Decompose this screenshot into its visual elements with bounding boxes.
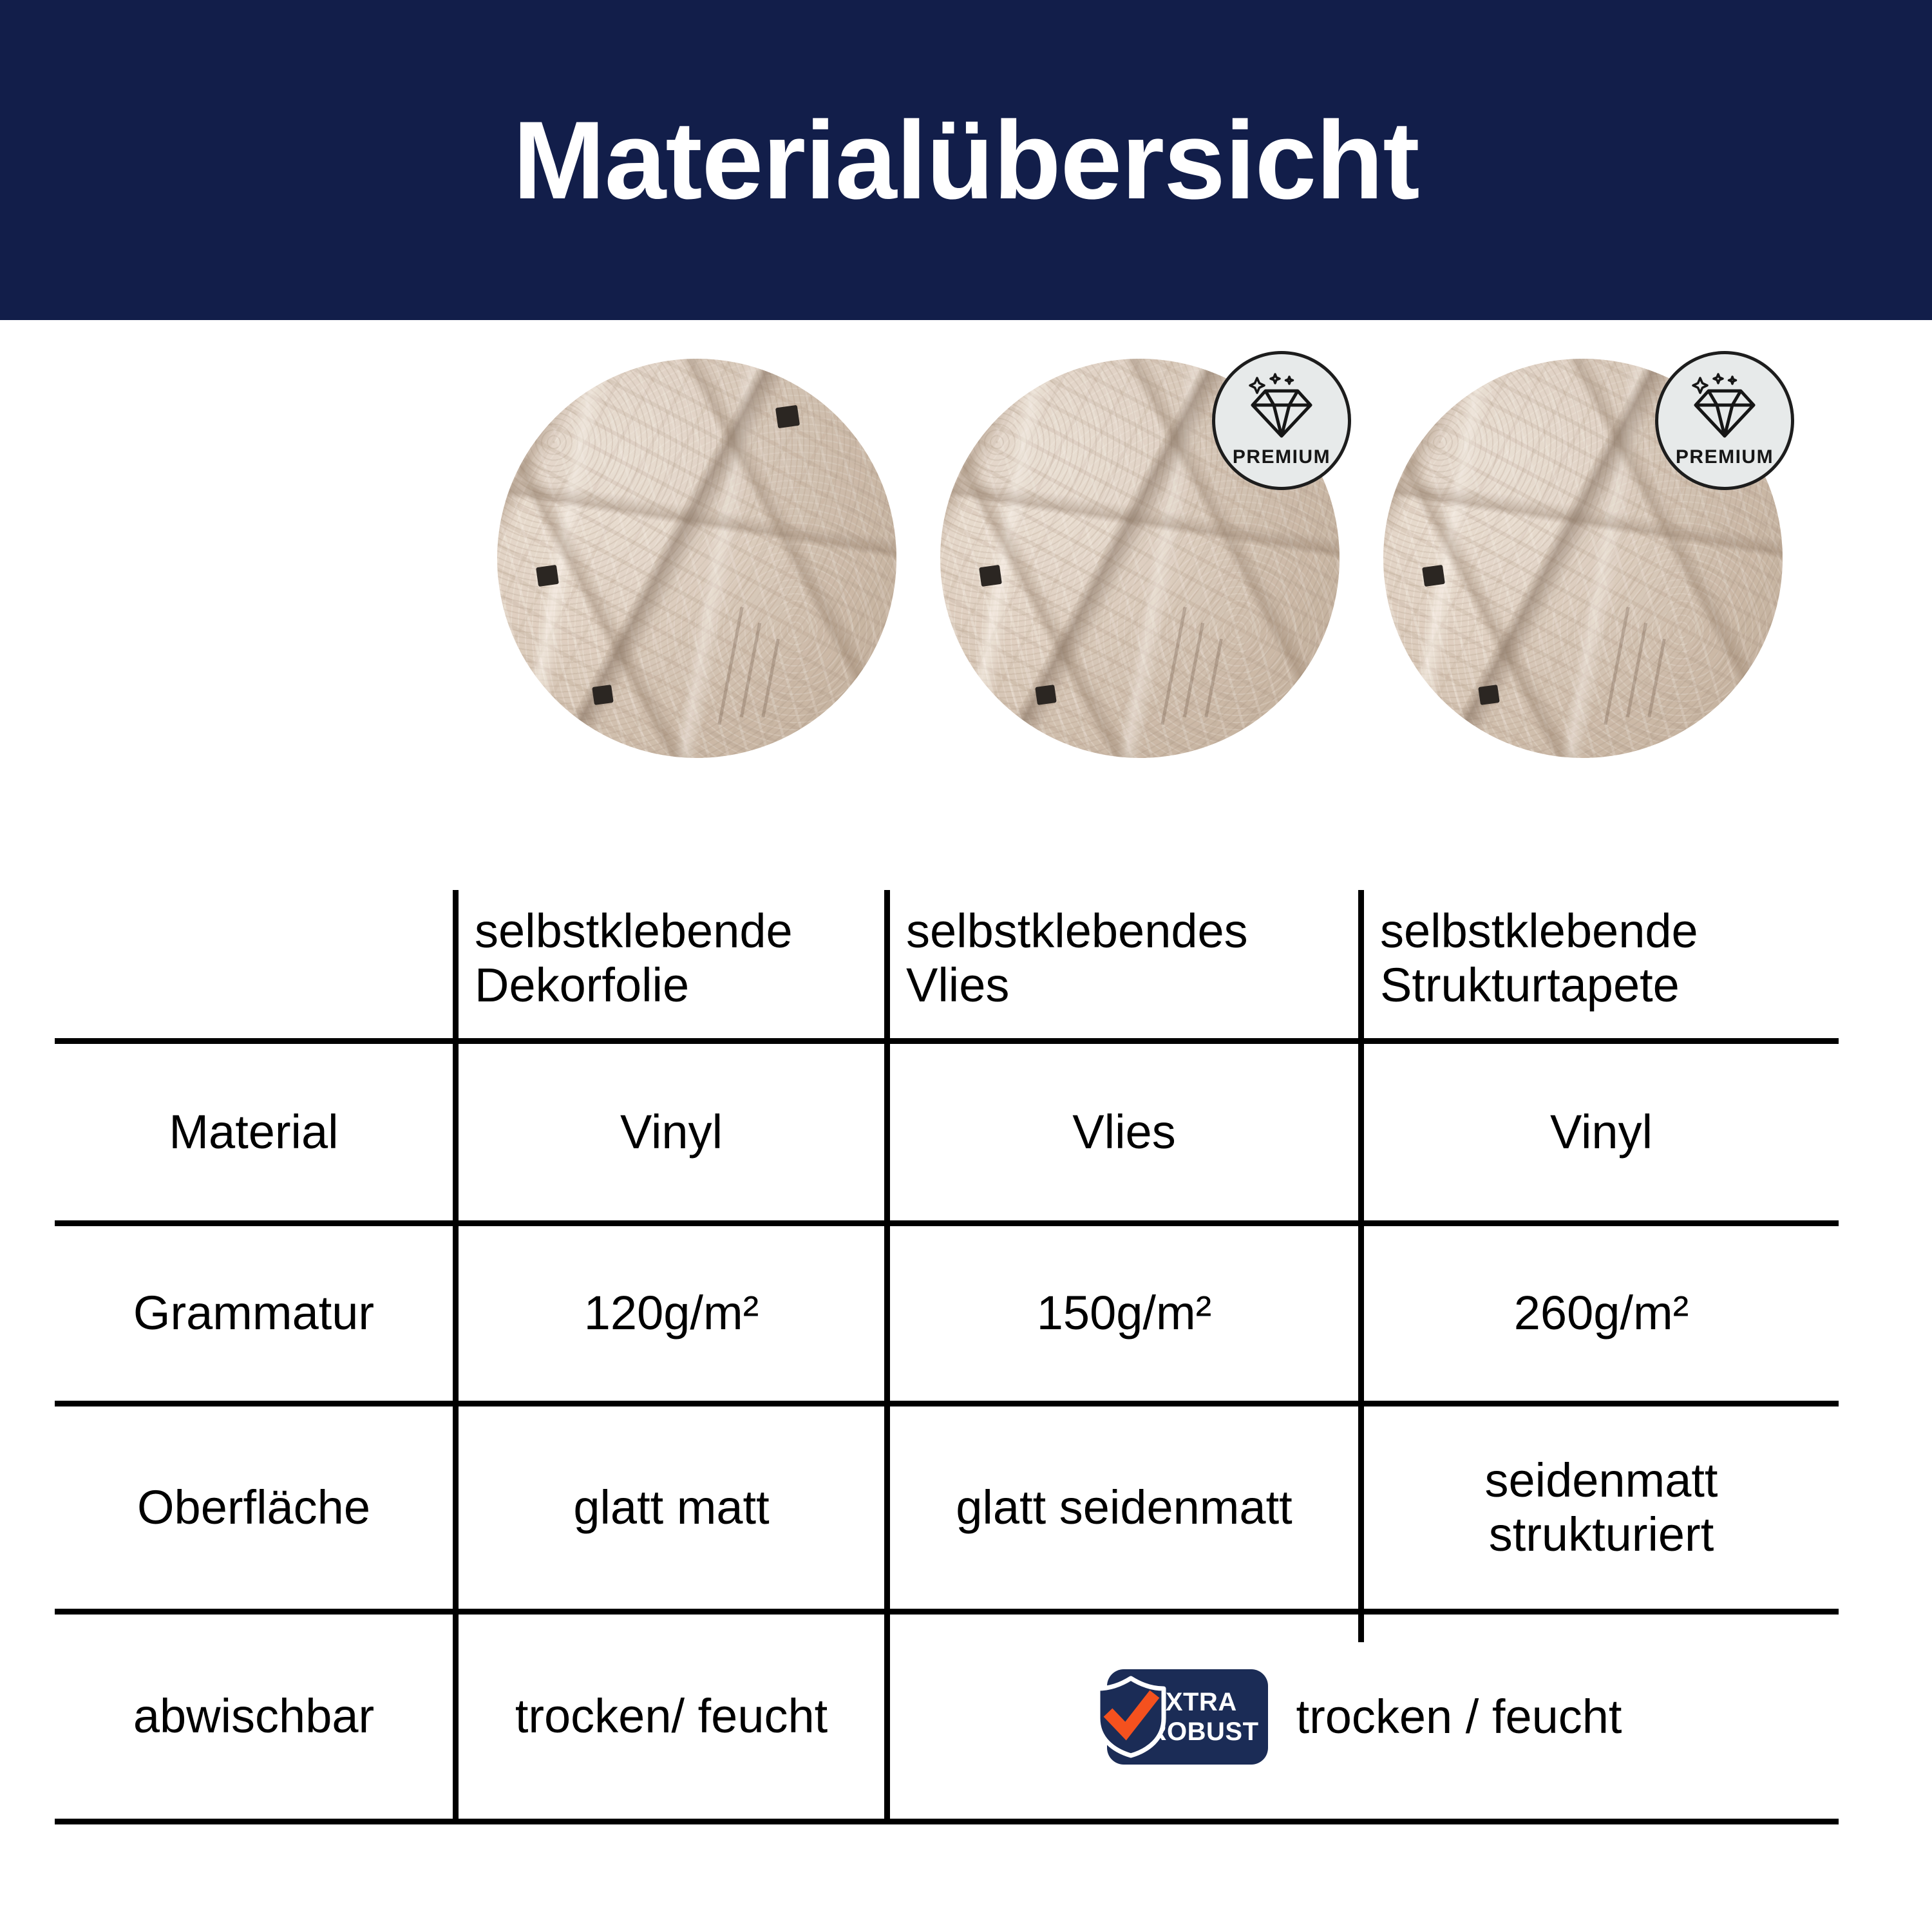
premium-badge-label: PREMIUM bbox=[1233, 446, 1331, 468]
table-header-col-2: selbstklebendes Vlies bbox=[896, 890, 1357, 1038]
table-header-col-3: selbstklebende Strukturtapete bbox=[1370, 890, 1821, 1038]
stone-relief-texture bbox=[497, 359, 896, 758]
table-cell-grammatur-dekorfolie: 120g/m² bbox=[459, 1226, 884, 1401]
table-cell-material-vlies: Vlies bbox=[890, 1044, 1358, 1220]
diamond-icon bbox=[1687, 373, 1763, 440]
table-row-label-material: Material bbox=[55, 1044, 453, 1220]
relief-hole bbox=[775, 405, 800, 428]
table-rule-1 bbox=[55, 1220, 1839, 1226]
table-rule-2 bbox=[55, 1401, 1839, 1406]
table-header-col-1: selbstklebende Dekorfolie bbox=[464, 890, 883, 1038]
table-rule-header bbox=[55, 1038, 1839, 1044]
table-rule-3 bbox=[55, 1609, 1839, 1615]
premium-badge: PREMIUM bbox=[1212, 351, 1351, 490]
table-cell-grammatur-strukturtapete: 260g/m² bbox=[1364, 1226, 1839, 1401]
relief-hole bbox=[1478, 685, 1500, 705]
premium-badge: PREMIUM bbox=[1655, 351, 1794, 490]
table-cell-grammatur-vlies: 150g/m² bbox=[890, 1226, 1358, 1401]
page-title: Materialübersicht bbox=[513, 105, 1419, 216]
table-col-divider-1 bbox=[453, 890, 459, 1819]
product-image-1 bbox=[497, 359, 896, 758]
table-cell-oberflaeche-dekorfolie: glatt matt bbox=[459, 1406, 884, 1609]
table-cell-abwischbar-value: trocken / feucht bbox=[1296, 1689, 1622, 1744]
table-col-divider-2 bbox=[884, 890, 890, 1819]
material-overview-page: Materialübersicht bbox=[0, 0, 1932, 1932]
page-header: Materialübersicht bbox=[0, 0, 1932, 320]
table-cell-abwischbar-merged: EXTRA ROBUST trocken / feucht bbox=[890, 1615, 1839, 1819]
product-thumb-strukturtapete[interactable]: PREMIUM bbox=[1383, 359, 1783, 758]
table-cell-oberflaeche-strukturtapete: seidenmatt strukturiert bbox=[1364, 1406, 1839, 1609]
table-cell-oberflaeche-vlies: glatt seidenmatt bbox=[890, 1406, 1358, 1609]
table-cell-material-strukturtapete: Vinyl bbox=[1364, 1044, 1839, 1220]
diamond-icon bbox=[1244, 373, 1320, 440]
table-cell-abwischbar-dekorfolie: trocken/ feucht bbox=[459, 1615, 884, 1819]
relief-hole bbox=[1422, 565, 1445, 587]
product-image-strip: PREMIUM bbox=[0, 320, 1932, 797]
shield-check-icon bbox=[1093, 1676, 1169, 1758]
table-col-divider-3 bbox=[1358, 890, 1364, 1642]
relief-hole bbox=[979, 565, 1002, 587]
material-comparison-table: selbstklebende Dekorfolie selbstklebende… bbox=[55, 857, 1839, 1823]
extra-robust-badge: EXTRA ROBUST bbox=[1107, 1669, 1268, 1765]
table-row-label-grammatur: Grammatur bbox=[55, 1226, 453, 1401]
relief-hole bbox=[592, 685, 614, 705]
table-row-label-oberflaeche: Oberfläche bbox=[55, 1406, 453, 1609]
product-thumb-vlies[interactable]: PREMIUM bbox=[940, 359, 1340, 758]
table-rule-bottom bbox=[55, 1819, 1839, 1824]
premium-badge-label: PREMIUM bbox=[1676, 446, 1774, 468]
relief-hole bbox=[536, 565, 559, 587]
table-cell-material-dekorfolie: Vinyl bbox=[459, 1044, 884, 1220]
product-thumb-dekorfolie[interactable] bbox=[497, 359, 896, 758]
table-row-label-abwischbar: abwischbar bbox=[55, 1615, 453, 1819]
relief-hole bbox=[1035, 685, 1057, 705]
